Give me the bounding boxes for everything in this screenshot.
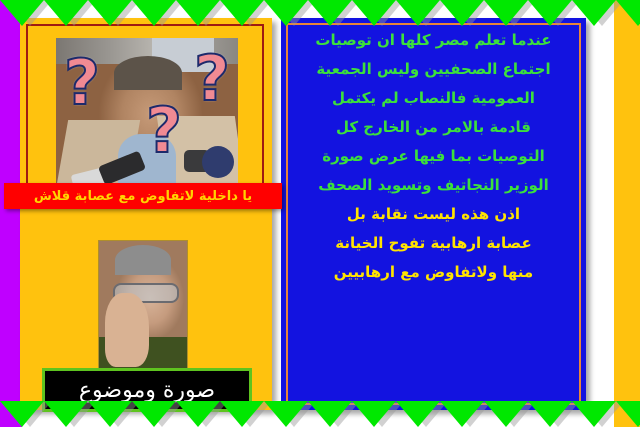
body-line: اذن هذه ليست نقابة بل: [292, 207, 575, 222]
caption-banner: صورة وموضوع: [42, 368, 252, 412]
body-line: الوزير النجاتيف وتسويد الصحف: [292, 178, 575, 193]
left-edge-strip: [0, 0, 22, 427]
caption-banner-text: صورة وموضوع: [79, 378, 215, 403]
hair: [114, 56, 182, 90]
press-conference-photo: ? ? ?: [56, 38, 238, 190]
right-edge-strip: [614, 0, 640, 427]
question-mark-icon: ?: [146, 100, 182, 162]
body-line: قادمة بالامر من الخارج كل: [292, 120, 575, 135]
poster-canvas: ? ? ? صورة وموضوع يا داخلية لاتفاوض مع ع…: [0, 0, 640, 427]
portrait-hair: [115, 245, 171, 275]
portrait-photo: [98, 240, 188, 372]
body-line: اجتماع الصحفيين وليس الجمعية: [292, 62, 575, 77]
body-line: عندما تعلم مصر كلها ان توصيات: [292, 33, 575, 48]
top-photo-frame: ? ? ?: [26, 24, 264, 200]
blue-text-frame: عندما تعلم مصر كلها ان توصيات اجتماع الص…: [286, 23, 581, 405]
body-line: التوصيات بما فيها عرض صورة: [292, 149, 575, 164]
question-mark-icon: ?: [64, 52, 100, 114]
right-blue-panel: عندما تعلم مصر كلها ان توصيات اجتماع الص…: [281, 18, 586, 410]
question-mark-icon: ?: [194, 48, 230, 110]
body-line: عصابة ارهابية تفوح الخيانة: [292, 236, 575, 251]
body-line: العمومية فالنصاب لم يكتمل: [292, 91, 575, 106]
microphone-blue-head: [202, 146, 234, 178]
red-slogan-text: يا داخلية لاتفاوض مع عصابة قلاش: [34, 189, 252, 204]
body-line: منها ولاتفاوض مع ارهابيين: [292, 265, 575, 280]
red-slogan-banner: يا داخلية لاتفاوض مع عصابة قلاش: [4, 183, 282, 209]
left-yellow-panel: ? ? ? صورة وموضوع: [20, 18, 272, 410]
hand-on-cheek: [105, 293, 149, 367]
